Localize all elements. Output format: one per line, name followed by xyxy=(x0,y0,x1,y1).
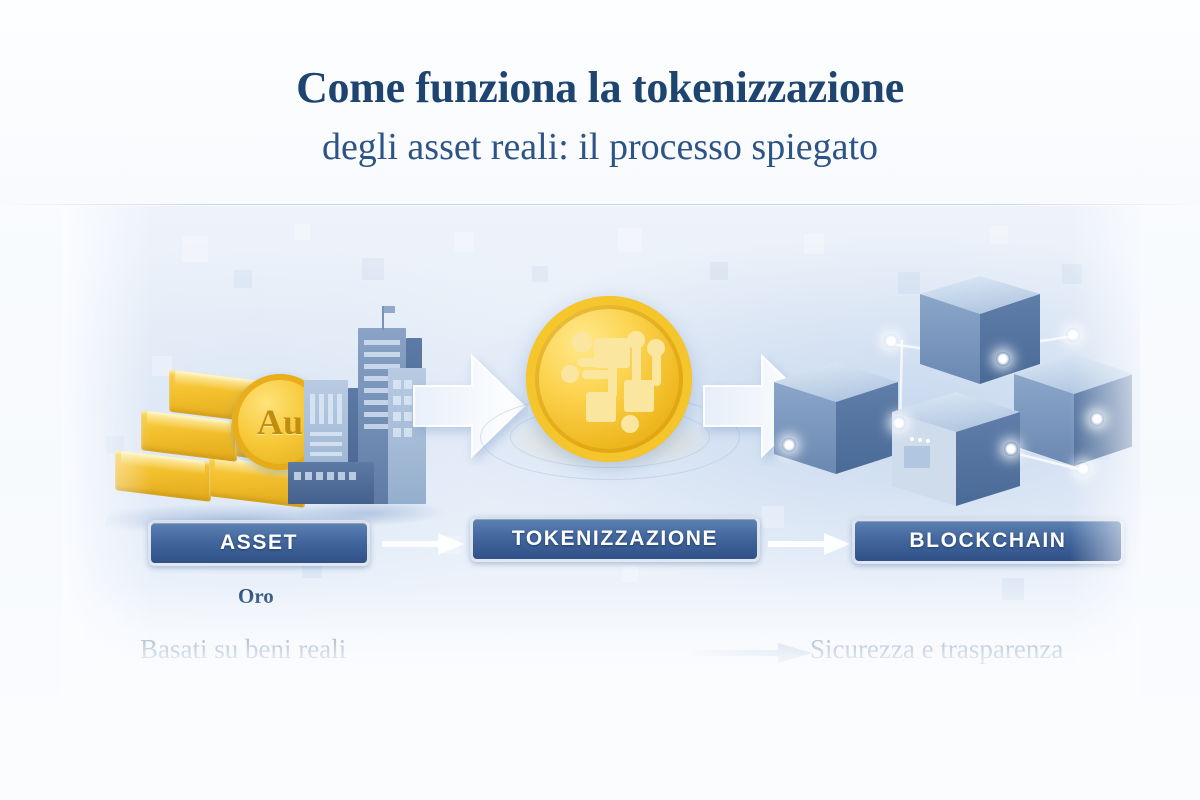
network-node xyxy=(782,438,796,452)
stage-label-asset: ASSET xyxy=(220,531,298,555)
au-symbol: Au xyxy=(257,401,303,443)
network-node xyxy=(884,334,898,348)
stage-label-blockchain: BLOCKCHAIN xyxy=(909,529,1066,553)
banner-connector-2-icon xyxy=(768,531,852,557)
title-zone: Come funziona la tokenizzazione degli as… xyxy=(0,0,1200,205)
network-node xyxy=(892,416,906,430)
stage-label-tokenizzazione: TOKENIZZAZIONE xyxy=(512,527,718,551)
stage-banner-asset[interactable]: ASSET xyxy=(148,520,370,566)
network-node xyxy=(996,352,1010,366)
token-coin-icon xyxy=(526,296,692,462)
banner-connector-1-icon xyxy=(382,531,466,557)
page-subtitle: degli asset reali: il processo spiegato xyxy=(0,125,1200,169)
illustration-panel: Au xyxy=(62,206,1140,706)
page-title: Come funziona la tokenizzazione xyxy=(0,62,1200,113)
panel-fade-bottom xyxy=(62,586,1140,706)
stage-banner-tokenizzazione[interactable]: TOKENIZZAZIONE xyxy=(470,516,760,562)
header-divider xyxy=(0,204,1200,205)
network-node xyxy=(1004,442,1018,456)
infographic-canvas: Come funziona la tokenizzazione degli as… xyxy=(0,0,1200,800)
circuit-network-icon xyxy=(526,296,692,462)
